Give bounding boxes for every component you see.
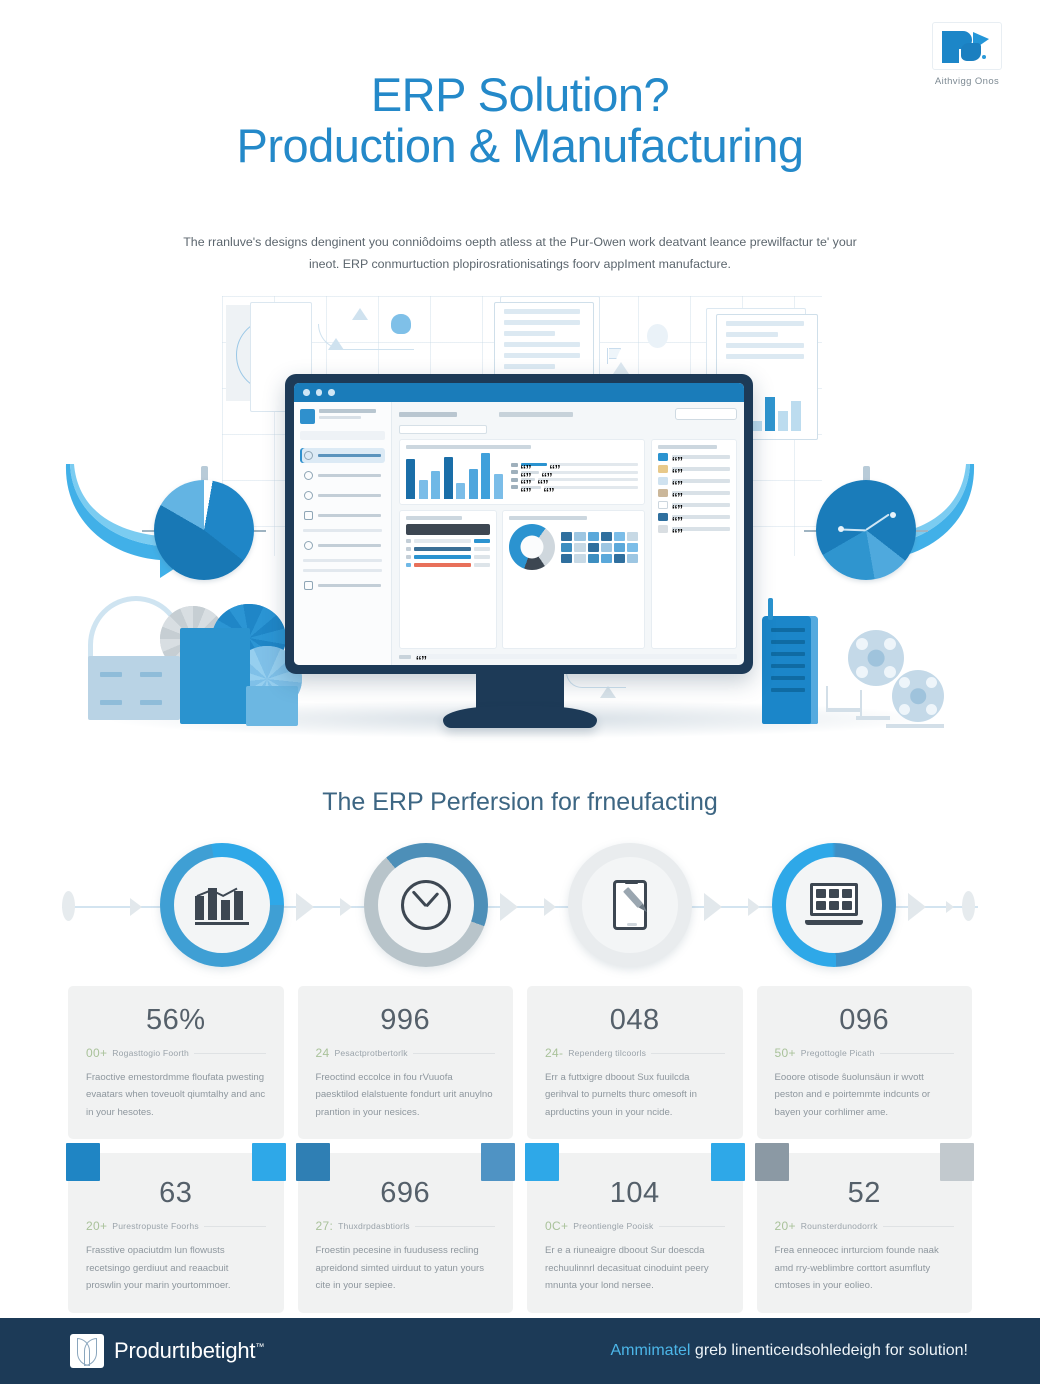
stat-card-grid: 56% 00+ Rogasttogio Foorth Fraoctive eme…: [68, 986, 972, 1327]
stat-rule: [651, 1053, 724, 1054]
doc-line: [726, 343, 804, 348]
stat-value: 63: [86, 1179, 266, 1208]
window-dot[interactable]: [328, 389, 335, 396]
accent-square-left: [66, 1143, 100, 1181]
table-toolbar: [406, 524, 490, 535]
machine-tower: [246, 686, 298, 726]
chart-legend: [511, 453, 639, 499]
title-line-2: Production & Manufacturing: [0, 120, 1040, 173]
stat-sub-label: Thuxdrpdasbtiorls: [338, 1221, 410, 1231]
pulley-hole: [884, 666, 896, 678]
stat-row-1: 56% 00+ Rogasttogio Foorth Fraoctive eme…: [68, 986, 972, 1139]
stat-card: 096 50+ Pregottogle Picath Eooore otisod…: [757, 986, 973, 1139]
pulley-hole: [856, 666, 868, 678]
heatmap-grid: [561, 532, 638, 563]
doc-line: [504, 331, 555, 336]
stat-body: Frasstive opaciutdm lun flowusts recetsi…: [86, 1242, 266, 1294]
process-icon-row: [62, 843, 978, 971]
bar: [431, 471, 440, 499]
stair-step: [886, 724, 944, 728]
process-node-inner: [378, 857, 474, 953]
accent-square-left: [525, 1143, 559, 1181]
server-slot: [771, 628, 805, 632]
bar: [481, 453, 490, 499]
legend-swatch: [521, 486, 541, 489]
stat-value: 52: [775, 1179, 955, 1208]
stair-rail: [826, 686, 828, 710]
title-line-1: ERP Solution?: [0, 70, 1040, 120]
table-row: [406, 563, 490, 567]
donut-card: [502, 510, 645, 649]
monitor-screen: [294, 383, 744, 665]
stat-value: 996: [316, 1006, 496, 1035]
panel-row: [658, 501, 730, 509]
stat-rule: [880, 1053, 954, 1054]
table-row: [406, 547, 490, 551]
bar-chart-icon: [195, 883, 249, 927]
laptop-screen: [810, 883, 858, 916]
stat-sub-label: Rogasttogio Foorth: [112, 1048, 189, 1058]
stat-subline: 00+ Rogasttogio Foorth: [86, 1046, 266, 1060]
panel-title-secondary: [499, 412, 573, 417]
track-cap-end: [962, 891, 975, 921]
stair-rail: [860, 690, 862, 718]
cabinet-drawer: [100, 672, 122, 677]
logo-blob-shape: [961, 43, 981, 61]
stat-card: 996 24 Pesactprotbertorlk Freoctind ecco…: [298, 986, 514, 1139]
page-title: ERP Solution? Production & Manufacturing: [0, 70, 1040, 173]
sidebar-divider: [303, 529, 382, 532]
footer-logo-text: Produrtıbetight™: [114, 1338, 264, 1364]
doc-line: [726, 354, 804, 359]
cloud-icon: [304, 491, 313, 500]
footer-tagline-rest: greb linenticeıdsohledeigh for solution!: [690, 1342, 968, 1359]
cabinet-drawer: [140, 700, 162, 705]
stat-subline: 0C+ Preontiengle Pooisk: [545, 1219, 725, 1233]
stat-sub-label: Rependerg tilcoorls: [568, 1048, 646, 1058]
stat-subline: 50+ Pregottogle Picath: [775, 1046, 955, 1060]
triangle-outline-icon: [328, 338, 344, 350]
doc-line: [726, 321, 804, 326]
footer-logo-label: Produrtıbetight: [114, 1338, 255, 1363]
track-cap-start: [62, 891, 75, 921]
stat-card: 696 27: Thuxdrpdasbtiorls Froestin peces…: [298, 1153, 514, 1312]
laptop-grid-icon: [805, 883, 863, 927]
trademark-symbol: ™: [255, 1342, 264, 1352]
footer-tagline: Ammimatel greb linenticeıdsohledeigh for…: [610, 1342, 968, 1360]
chevron-right-icon: [296, 893, 314, 921]
chevron-right-icon: [748, 898, 760, 916]
cabinet-drawer: [140, 672, 162, 677]
stat-sub-label: Purestropuste Foorhs: [112, 1221, 199, 1231]
infographic-page: Aithvigg Onos ERP Solution? Production &…: [0, 0, 1040, 1384]
dashboard-header-row: [399, 408, 737, 420]
server-antenna: [768, 598, 773, 620]
p-logo-mark: [932, 22, 1002, 70]
window-titlebar: [294, 383, 744, 402]
chevron-right-icon: [130, 898, 142, 916]
server-slot: [771, 664, 805, 668]
leaf-pages-mark: [70, 1334, 104, 1368]
stat-value: 696: [316, 1179, 496, 1208]
stat-body: Er e a riuneaigre dboout Sur doescda rec…: [545, 1242, 725, 1294]
stat-subline: 20+ Purestropuste Foorhs: [86, 1219, 266, 1233]
sidebar-item-invest-prosna[interactable]: [300, 468, 385, 483]
doc-line: [504, 342, 580, 347]
process-node-4[interactable]: [772, 843, 896, 967]
sidebar-item-label: [318, 454, 381, 458]
legend-label: [538, 478, 639, 481]
accent-square-right: [940, 1143, 974, 1181]
process-node-3[interactable]: [568, 843, 692, 967]
gear-icon: [304, 541, 313, 550]
doc-line: [726, 332, 778, 337]
server-rack: [762, 616, 818, 724]
card-title: [509, 516, 586, 520]
stat-sub-value: 24: [316, 1046, 330, 1060]
sidebar-item-niku-hyfliyvn[interactable]: [300, 538, 385, 553]
accent-square-right: [481, 1143, 515, 1181]
pulley-hole: [884, 638, 896, 650]
process-node-inner: [786, 857, 882, 953]
bar-chart: [406, 453, 503, 499]
stat-sub-label: Rounsterdunodorrk: [801, 1221, 878, 1231]
panel-row: [658, 477, 730, 485]
sidebar-item-subensisat[interactable]: [300, 578, 385, 593]
clock-endpoint: [838, 526, 844, 532]
panel-row: [658, 525, 730, 533]
accent-square-left: [755, 1143, 789, 1181]
stat-sub-value: 50+: [775, 1046, 796, 1060]
pie-disc: [154, 480, 254, 580]
stat-body: Eooore otisode ŝuolunsäun ir wvott pesto…: [775, 1069, 955, 1121]
stat-value: 048: [545, 1006, 725, 1035]
sidebar-item-label: [318, 494, 381, 498]
process-node-2[interactable]: [364, 843, 488, 967]
sidebar-item-franodb[interactable]: [300, 448, 385, 463]
cabinet-unit: [88, 656, 180, 720]
bar: [406, 459, 415, 499]
stat-subline: 20+ Rounsterdunodorrk: [775, 1219, 955, 1233]
table-row: [406, 539, 490, 543]
sidebar-search-input[interactable]: [300, 431, 385, 440]
flag-icon: [607, 348, 620, 364]
clock-icon: [304, 471, 313, 480]
panel-title: [399, 412, 457, 417]
stat-rule: [194, 1053, 266, 1054]
bar: [444, 457, 453, 499]
process-node-inner: [582, 857, 678, 953]
dashboard-footer-row: [399, 654, 737, 659]
legend-key: [511, 485, 518, 489]
dashboard-body: [294, 402, 744, 665]
table-row: [406, 555, 490, 559]
dashboard-main: [392, 402, 744, 665]
logo-dot: [982, 55, 986, 59]
card-title: [406, 516, 462, 520]
section-heading: The ERP Perfersion for frneufacting: [0, 788, 1040, 817]
stat-card: 56% 00+ Rogasttogio Foorth Fraoctive eme…: [68, 986, 284, 1139]
stat-value: 56%: [86, 1006, 266, 1035]
bar: [494, 474, 503, 499]
clock-icon: [401, 880, 451, 930]
server-slot: [771, 652, 805, 656]
panel-row: [658, 465, 730, 473]
clock-endpoint: [890, 512, 896, 518]
chevron-right-icon: [946, 901, 954, 913]
right-clock-pie-chart: [812, 466, 920, 594]
stat-sub-value: 24-: [545, 1046, 563, 1060]
stat-value: 096: [775, 1006, 955, 1035]
doc-line: [504, 364, 555, 369]
stat-rule: [413, 1053, 495, 1054]
stat-sub-value: 27:: [316, 1219, 334, 1233]
sidebar-brand-text: [319, 409, 385, 419]
pulley-wheel: [848, 630, 904, 686]
filter-dropdown[interactable]: [399, 425, 487, 434]
legend-label: [550, 463, 639, 466]
viamoe-button[interactable]: [675, 408, 737, 420]
stat-subline: 24 Pesactprotbertorlk: [316, 1046, 496, 1060]
chevron-right-icon: [544, 898, 556, 916]
stat-sub-label: Pregottogle Picath: [801, 1048, 875, 1058]
bar: [456, 483, 465, 499]
legend-swatch: [521, 478, 535, 481]
legend-row: [511, 463, 639, 467]
stat-rule: [659, 1226, 725, 1227]
stat-sub-value: 20+: [775, 1219, 796, 1233]
panel-row: [658, 489, 730, 497]
stair-step: [826, 708, 860, 712]
stat-card: 048 24- Rependerg tilcoorls Err a futtxi…: [527, 986, 743, 1139]
footer-field: [416, 654, 737, 659]
stat-card: 63 20+ Purestropuste Foorhs Frasstive op…: [68, 1153, 284, 1312]
legend-swatch: [521, 471, 539, 474]
accent-square-right: [252, 1143, 286, 1181]
stat-subline: 24- Rependerg tilcoorls: [545, 1046, 725, 1060]
stairs-platform: [826, 680, 944, 728]
sidebar-item-label: [318, 584, 381, 588]
bar: [419, 480, 428, 499]
stat-subline: 27: Thuxdrpdasbtiorls: [316, 1219, 496, 1233]
sidebar-divider: [303, 569, 382, 572]
dashboard-content-row: [399, 439, 737, 649]
triangle-outline-icon: [352, 308, 368, 320]
erp-dashboard-monitor: [285, 374, 753, 674]
stat-rule: [415, 1226, 495, 1227]
table-card: [399, 510, 497, 649]
chevron-right-icon: [908, 893, 926, 921]
card-title: [406, 445, 531, 449]
chevron-right-icon: [704, 893, 722, 921]
bar-chart-card: [399, 439, 645, 505]
server-slot: [771, 688, 805, 692]
process-node-inner: [174, 857, 270, 953]
stat-body: Frea enneocec inrturciom founde naak amd…: [775, 1242, 955, 1294]
doc-line: [504, 320, 580, 325]
stat-card: 52 20+ Rounsterdunodorrk Frea enneocec i…: [757, 1153, 973, 1312]
stat-value: 104: [545, 1179, 725, 1208]
accent-square-right: [711, 1143, 745, 1181]
footer-label: [399, 655, 411, 659]
hero-illustration: [0, 288, 1040, 766]
footer-logo: Produrtıbetight™: [70, 1334, 264, 1368]
footer-tagline-highlight: Ammimatel: [610, 1342, 690, 1359]
donut-chart: [509, 524, 555, 570]
sidebar-item-avpraclodn[interactable]: [300, 508, 385, 523]
stat-body: Freoctind eccolce in fou rVuuofa paeskti…: [316, 1069, 496, 1121]
dashboard-right-panel: [651, 439, 737, 649]
legend-row: [511, 485, 639, 489]
dashboard-icon: [304, 451, 313, 460]
cable-line: [566, 672, 626, 688]
left-pie-chart: [150, 466, 258, 594]
legend-row: [511, 478, 639, 482]
bar: [469, 469, 478, 499]
process-node-1[interactable]: [160, 843, 284, 967]
server-slot: [771, 640, 805, 644]
sidebar-item-enquretorbtats[interactable]: [300, 488, 385, 503]
legend-key: [511, 463, 518, 467]
stat-sub-label: Pesactprotbertorlk: [334, 1048, 407, 1058]
window-dot[interactable]: [316, 389, 323, 396]
legend-key: [511, 470, 518, 474]
tablet-stylus-icon: [613, 880, 647, 930]
legend-key: [511, 478, 518, 482]
stat-row-2: 63 20+ Purestropuste Foorhs Frasstive op…: [68, 1153, 972, 1312]
monitor-base: [443, 706, 597, 728]
list-icon: [304, 581, 313, 590]
stat-body: Fraoctive emestordmme floufata pwesting …: [86, 1069, 266, 1121]
dashboard-sidebar: [294, 402, 392, 665]
stat-body: Froestin pecesine in fuudusess recling a…: [316, 1242, 496, 1294]
sidebar-item-label: [318, 514, 381, 518]
pulley-hole: [856, 638, 868, 650]
server-slot: [771, 676, 805, 680]
stat-sub-label: Preontiengle Pooisk: [573, 1221, 653, 1231]
legend-label: [542, 471, 639, 474]
stylus-icon: [623, 887, 643, 908]
stat-rule: [204, 1226, 266, 1227]
stat-sub-value: 00+: [86, 1046, 107, 1060]
cabinet-drawer: [100, 700, 122, 705]
sidebar-logo-icon: [300, 409, 315, 424]
page-subtitle: The rranluve's designs denginent you con…: [170, 232, 870, 275]
stat-sub-value: 20+: [86, 1219, 107, 1233]
stat-rule: [883, 1226, 954, 1227]
page-footer: Produrtıbetight™ Ammimatel greb linentic…: [0, 1318, 1040, 1384]
panel-row: [658, 453, 730, 461]
stat-card: 104 0C+ Preontiengle Pooisk Er e a riune…: [527, 1153, 743, 1312]
doc-line: [504, 353, 580, 358]
legend-swatch: [521, 463, 547, 466]
legend-row: [511, 470, 639, 474]
sidebar-item-label: [318, 544, 381, 548]
laptop-base: [805, 920, 863, 925]
sidebar-brand: [300, 409, 385, 424]
sidebar-item-label: [318, 474, 381, 478]
egg-blob-shape: [647, 324, 668, 348]
chevron-right-icon: [500, 893, 518, 921]
stat-body: Err a futtxigre dboout Sux fuuilcda geri…: [545, 1069, 725, 1121]
window-dot[interactable]: [303, 389, 310, 396]
machine-tower: [180, 628, 250, 724]
box-icon: [304, 511, 313, 520]
card-title: [658, 445, 717, 449]
chevron-right-icon: [340, 898, 352, 916]
doc-line: [504, 309, 580, 314]
accent-square-left: [296, 1143, 330, 1181]
stat-sub-value: 0C+: [545, 1219, 568, 1233]
legend-label: [544, 486, 639, 489]
sidebar-divider: [303, 559, 382, 562]
panel-row: [658, 513, 730, 521]
